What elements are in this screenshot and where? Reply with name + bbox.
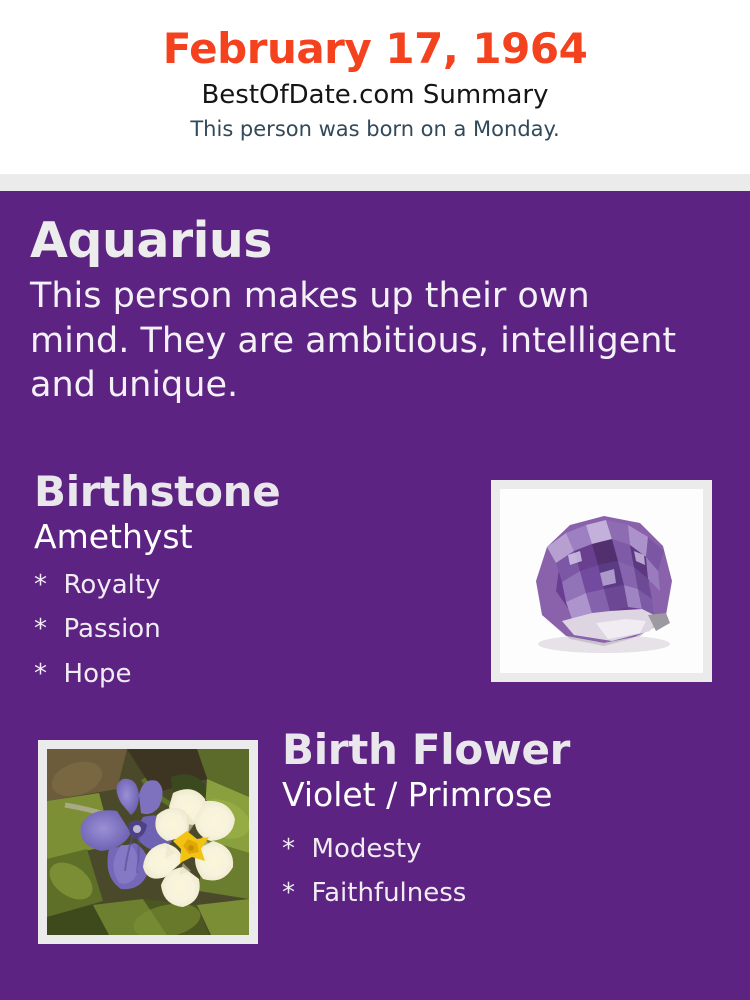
zodiac-section: Aquarius This person makes up their own … bbox=[30, 215, 690, 407]
header-divider bbox=[0, 174, 750, 191]
birthstone-title: Birthstone bbox=[34, 471, 474, 513]
zodiac-title: Aquarius bbox=[30, 215, 690, 266]
birthstone-section: Birthstone Amethyst * Royalty * Passion … bbox=[34, 471, 474, 697]
list-item: * Hope bbox=[34, 652, 474, 697]
page-title-date: February 17, 1964 bbox=[0, 0, 750, 70]
birth-day-note: This person was born on a Monday. bbox=[0, 108, 750, 140]
birthstone-name: Amethyst bbox=[34, 513, 474, 555]
birthstone-photo-frame bbox=[491, 480, 712, 682]
birth-flower-title: Birth Flower bbox=[282, 729, 732, 771]
list-item: * Modesty bbox=[282, 827, 732, 871]
list-item: * Passion bbox=[34, 607, 474, 652]
birth-flower-photo-frame bbox=[38, 740, 258, 944]
birth-flower-photo bbox=[47, 749, 249, 935]
list-item: * Faithfulness bbox=[282, 871, 732, 915]
header: February 17, 1964 BestOfDate.com Summary… bbox=[0, 0, 750, 174]
list-item: * Royalty bbox=[34, 563, 474, 608]
amethyst-crystal-icon bbox=[500, 489, 703, 673]
birthstone-trait-list: * Royalty * Passion * Hope bbox=[34, 555, 474, 697]
birth-flower-name: Violet / Primrose bbox=[282, 771, 732, 813]
birth-flower-trait-list: * Modesty * Faithfulness bbox=[282, 813, 732, 915]
zodiac-description: This person makes up their own mind. The… bbox=[30, 266, 680, 406]
birth-flower-section: Birth Flower Violet / Primrose * Modesty… bbox=[282, 729, 732, 915]
violet-primrose-flower-icon bbox=[47, 749, 249, 935]
site-subtitle: BestOfDate.com Summary bbox=[0, 70, 750, 108]
birthstone-photo bbox=[500, 489, 703, 673]
summary-card: February 17, 1964 BestOfDate.com Summary… bbox=[0, 0, 750, 1000]
